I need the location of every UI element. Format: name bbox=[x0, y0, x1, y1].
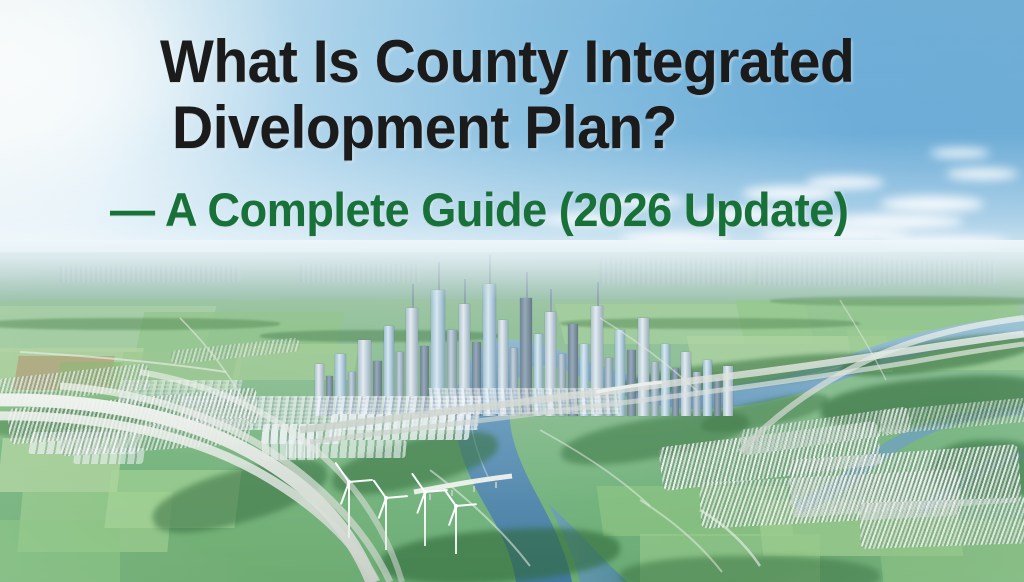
wind-turbine bbox=[348, 482, 350, 538]
turbine-mast bbox=[348, 482, 350, 538]
turbine-mast bbox=[455, 506, 457, 554]
wind-turbine bbox=[455, 506, 457, 554]
turbine-hub bbox=[384, 496, 388, 500]
turbine-hub bbox=[454, 504, 458, 508]
headline-overlay: What Is County Integrated Divelopment Pl… bbox=[0, 0, 1024, 268]
wind-turbine bbox=[385, 498, 387, 550]
turbine-mast bbox=[385, 498, 387, 550]
headline-subtitle: — A Complete Guide (2026 Update) bbox=[110, 186, 848, 233]
turbine-hub bbox=[423, 490, 427, 494]
wind-turbine bbox=[424, 492, 426, 546]
headline-line-2: Divelopment Plan? bbox=[172, 98, 677, 158]
headline-line-1: What Is County Integrated bbox=[160, 32, 854, 92]
turbine-mast bbox=[424, 492, 426, 546]
turbine-hub bbox=[347, 480, 351, 484]
hero-banner: What Is County Integrated Divelopment Pl… bbox=[0, 0, 1024, 582]
